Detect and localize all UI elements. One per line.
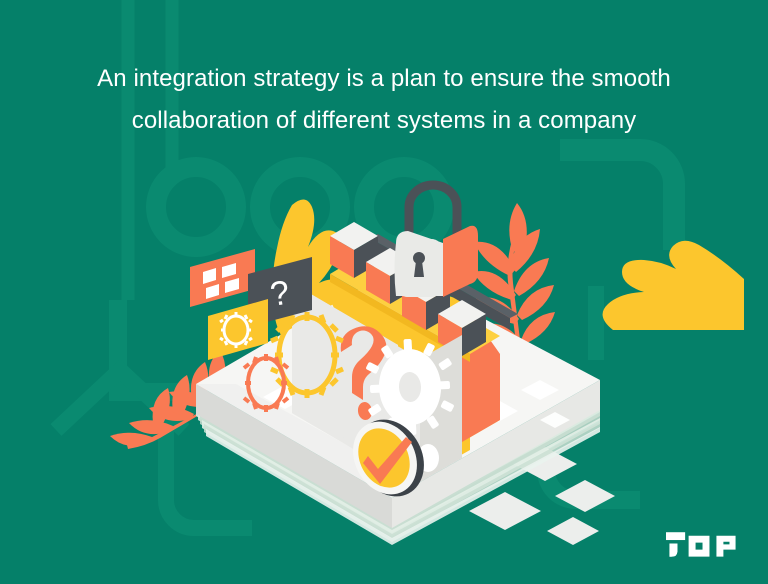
leaf-yellow-right	[603, 241, 744, 330]
jop-logo	[666, 532, 746, 566]
page-title-line-2: collaboration of different systems in a …	[0, 100, 768, 142]
padlock	[395, 185, 479, 297]
card-dashboard	[190, 249, 255, 307]
jop-logo-mark	[666, 532, 746, 562]
page-title-line-1: An integration strategy is a plan to ens…	[0, 58, 768, 100]
page-title: An integration strategy is a plan to ens…	[0, 58, 768, 142]
poster-canvas: ?	[0, 0, 768, 584]
